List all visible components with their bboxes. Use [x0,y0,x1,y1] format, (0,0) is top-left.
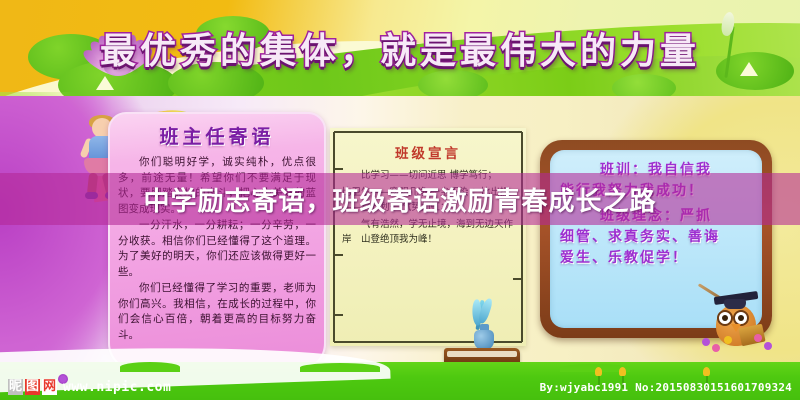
poster-image: 最优秀的集体，就是最伟大的力量 班主任寄语 你们聪明好学，诚实纯朴，优点很多，前… [0,0,800,400]
tulip-icon [703,367,710,376]
board-line-philosophy-3: 爱生、乐教促学！ [560,248,752,269]
scroll-edge-left [333,132,335,342]
header-headline: 最优秀的集体，就是最伟大的力量 [0,22,800,74]
watermark-logo-char-1: 昵 [8,379,23,395]
panel-teacher-message: 班主任寄语 你们聪明好学，诚实纯朴，优点很多，前途无量！希望你们不要满足于现状，… [108,112,326,371]
tulip-icon [619,367,626,376]
lily-pad-notch [96,76,114,90]
scroll-nick [333,314,343,316]
inkwell-icon [474,330,494,350]
grass-bump [120,362,180,372]
panel-class-declaration-title: 班级宣言 [330,142,526,162]
paragraph: 你们已经懂得了学习的重要，老师为你们高兴。我相信，在成长的过程中，你们会信心百倍… [118,281,316,343]
owl-mascot-icon [700,286,772,352]
paragraph: 一分汗水，一分耕耘；一分辛劳，一分收获。相信你们已经懂得了这个道理。为了美好的明… [118,218,316,280]
scroll-nick [513,278,523,280]
panel-teacher-message-title: 班主任寄语 [110,122,324,149]
scroll-edge-top [334,131,522,133]
header-banner: 最优秀的集体，就是最伟大的力量 [0,0,800,102]
watermark-credit: By:wjyabc1991 No:20150830151601709324 [540,381,792,394]
footer-grass-strip: 昵 图 网 www.nipic.com By:wjyabc1991 No:201… [0,362,800,400]
watermark-url: www.nipic.com [63,380,171,395]
scroll-edge-right [521,132,523,342]
overlay-title-band: 中学励志寄语，班级寄语激励青春成长之路 [0,173,800,225]
watermark-logo-char-2: 图 [25,379,40,395]
board-line-philosophy-2: 细管、求真务实、善诲 [560,227,752,248]
panel-class-declaration: 班级宣言 比学习——切问近思 博学笃行； 比卫生——窗明几净 一尘不染 ；比出操… [330,128,526,346]
watermark-logo-char-3: 网 [42,379,57,395]
scroll-nick [333,254,343,256]
flower-cluster-icon [700,330,776,352]
grass-bump [300,363,380,372]
tulip-icon [595,367,602,376]
watermark-logo: 昵 图 网 www.nipic.com [8,379,171,395]
overlay-title-text: 中学励志寄语，班级寄语激励青春成长之路 [143,181,656,218]
